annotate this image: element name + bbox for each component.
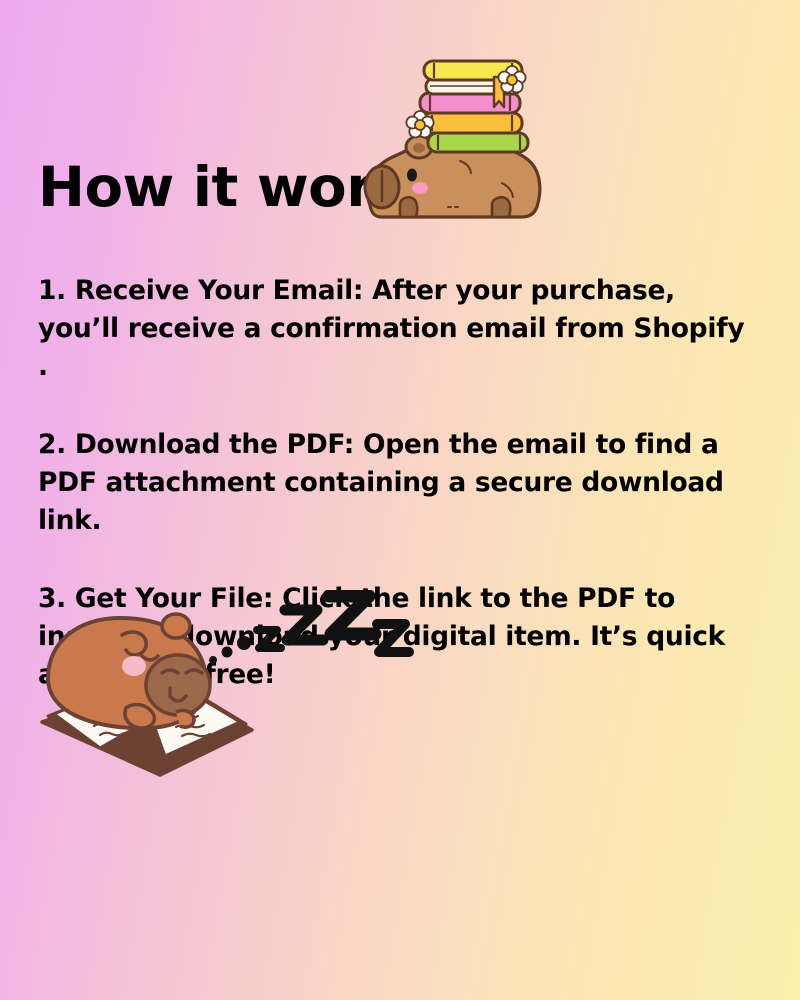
zzz-dot bbox=[237, 636, 251, 650]
step-item: 2. Download the PDF: Open the email to f… bbox=[38, 426, 760, 540]
step-item: 1. Receive Your Email: After your purcha… bbox=[38, 272, 760, 386]
zzz-dot bbox=[222, 647, 233, 658]
zzz-dot bbox=[209, 656, 217, 664]
capybara-with-book-stack-illustration bbox=[352, 55, 552, 240]
sleeping-capybara-body bbox=[48, 614, 210, 728]
sleep-zzz-icon bbox=[205, 590, 415, 680]
poster-canvas: How it works bbox=[0, 0, 800, 1000]
